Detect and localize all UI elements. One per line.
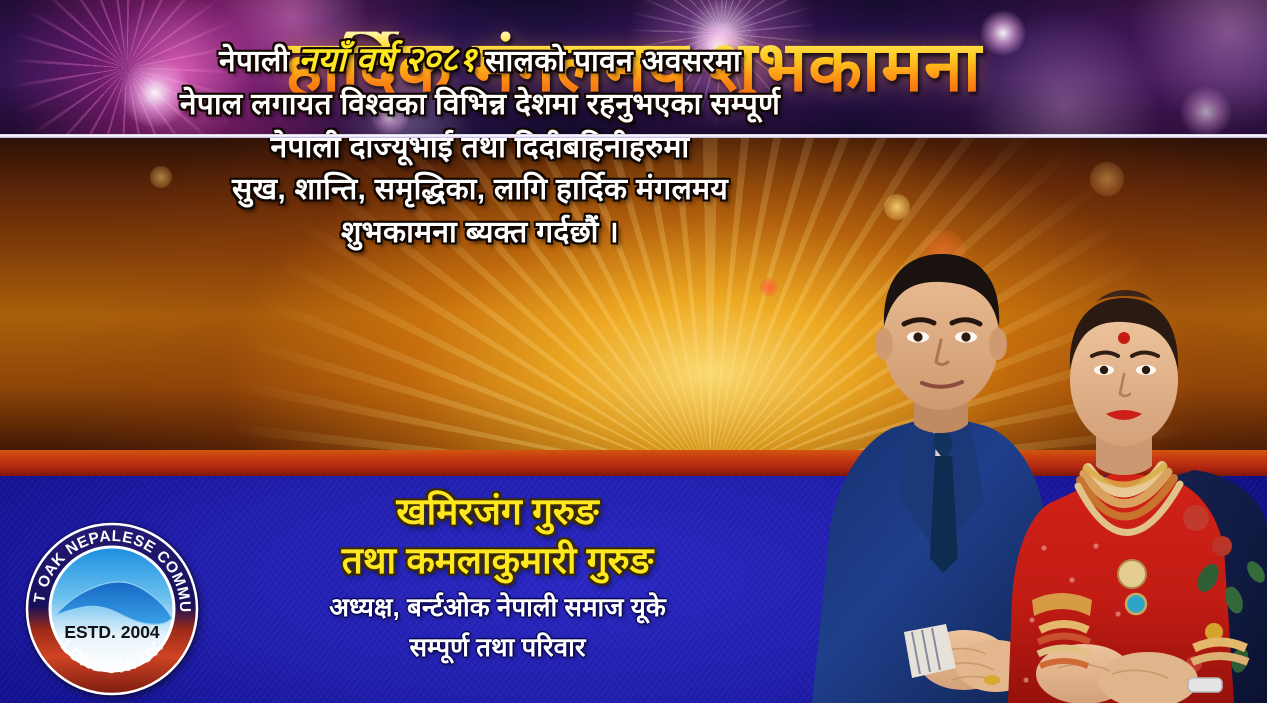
- couple-photo: [796, 228, 1267, 703]
- message-line-1-highlight: नयाँ वर्ष २०८१: [298, 41, 477, 79]
- message-line-1-before: नेपाली: [219, 45, 298, 78]
- message-line-1-after: सालको पावन अवसरमा: [477, 45, 741, 78]
- woman-watch: [1188, 678, 1222, 692]
- header-divider: [0, 134, 1267, 138]
- greeting-message: नेपाली नयाँ वर्ष २०८१ सालको पावन अवसरमा …: [0, 36, 960, 255]
- logo-established-text: ESTD. 2004: [64, 622, 160, 642]
- man-ring: [984, 675, 1000, 685]
- couple-portrait-image: [796, 228, 1267, 703]
- signatory-role-line-1: अध्यक्ष, बर्न्टओक नेपाली समाज यूके: [215, 591, 780, 625]
- signatory-name-line-2: तथा कमलाकुमारी गुरुङ: [215, 536, 780, 585]
- bokeh-3-icon: [760, 278, 778, 296]
- signatory-role-line-2: सम्पूर्ण तथा परिवार: [215, 631, 780, 665]
- signatory-name-line-1: खमिरजंग गुरुङ: [215, 487, 780, 536]
- logo-badge-icon: BURNT OAK NEPALESE COMMUNITY LONDON. UK …: [22, 519, 202, 699]
- greeting-banner: हार्दिक मंगलमय शुभकामना नेपाली नयाँ वर्ष…: [0, 0, 1267, 703]
- woman-turquoise-pendant: [1126, 594, 1146, 614]
- message-line-4: सुख, शान्ति, समृद्धिका, लागि हार्दिक मंग…: [0, 169, 960, 212]
- organization-logo: BURNT OAK NEPALESE COMMUNITY LONDON. UK …: [22, 519, 202, 699]
- message-line-1: नेपाली नयाँ वर्ष २०८१ सालको पावन अवसरमा: [0, 36, 960, 84]
- message-line-2: नेपाल लगायत विश्वका विभिन्न देशमा रहनुभए…: [0, 84, 960, 127]
- signature-block: खमिरजंग गुरुङ तथा कमलाकुमारी गुरुङ अध्यक…: [215, 487, 780, 665]
- bokeh-5-icon: [1090, 162, 1124, 196]
- woman-tika: [1118, 332, 1130, 344]
